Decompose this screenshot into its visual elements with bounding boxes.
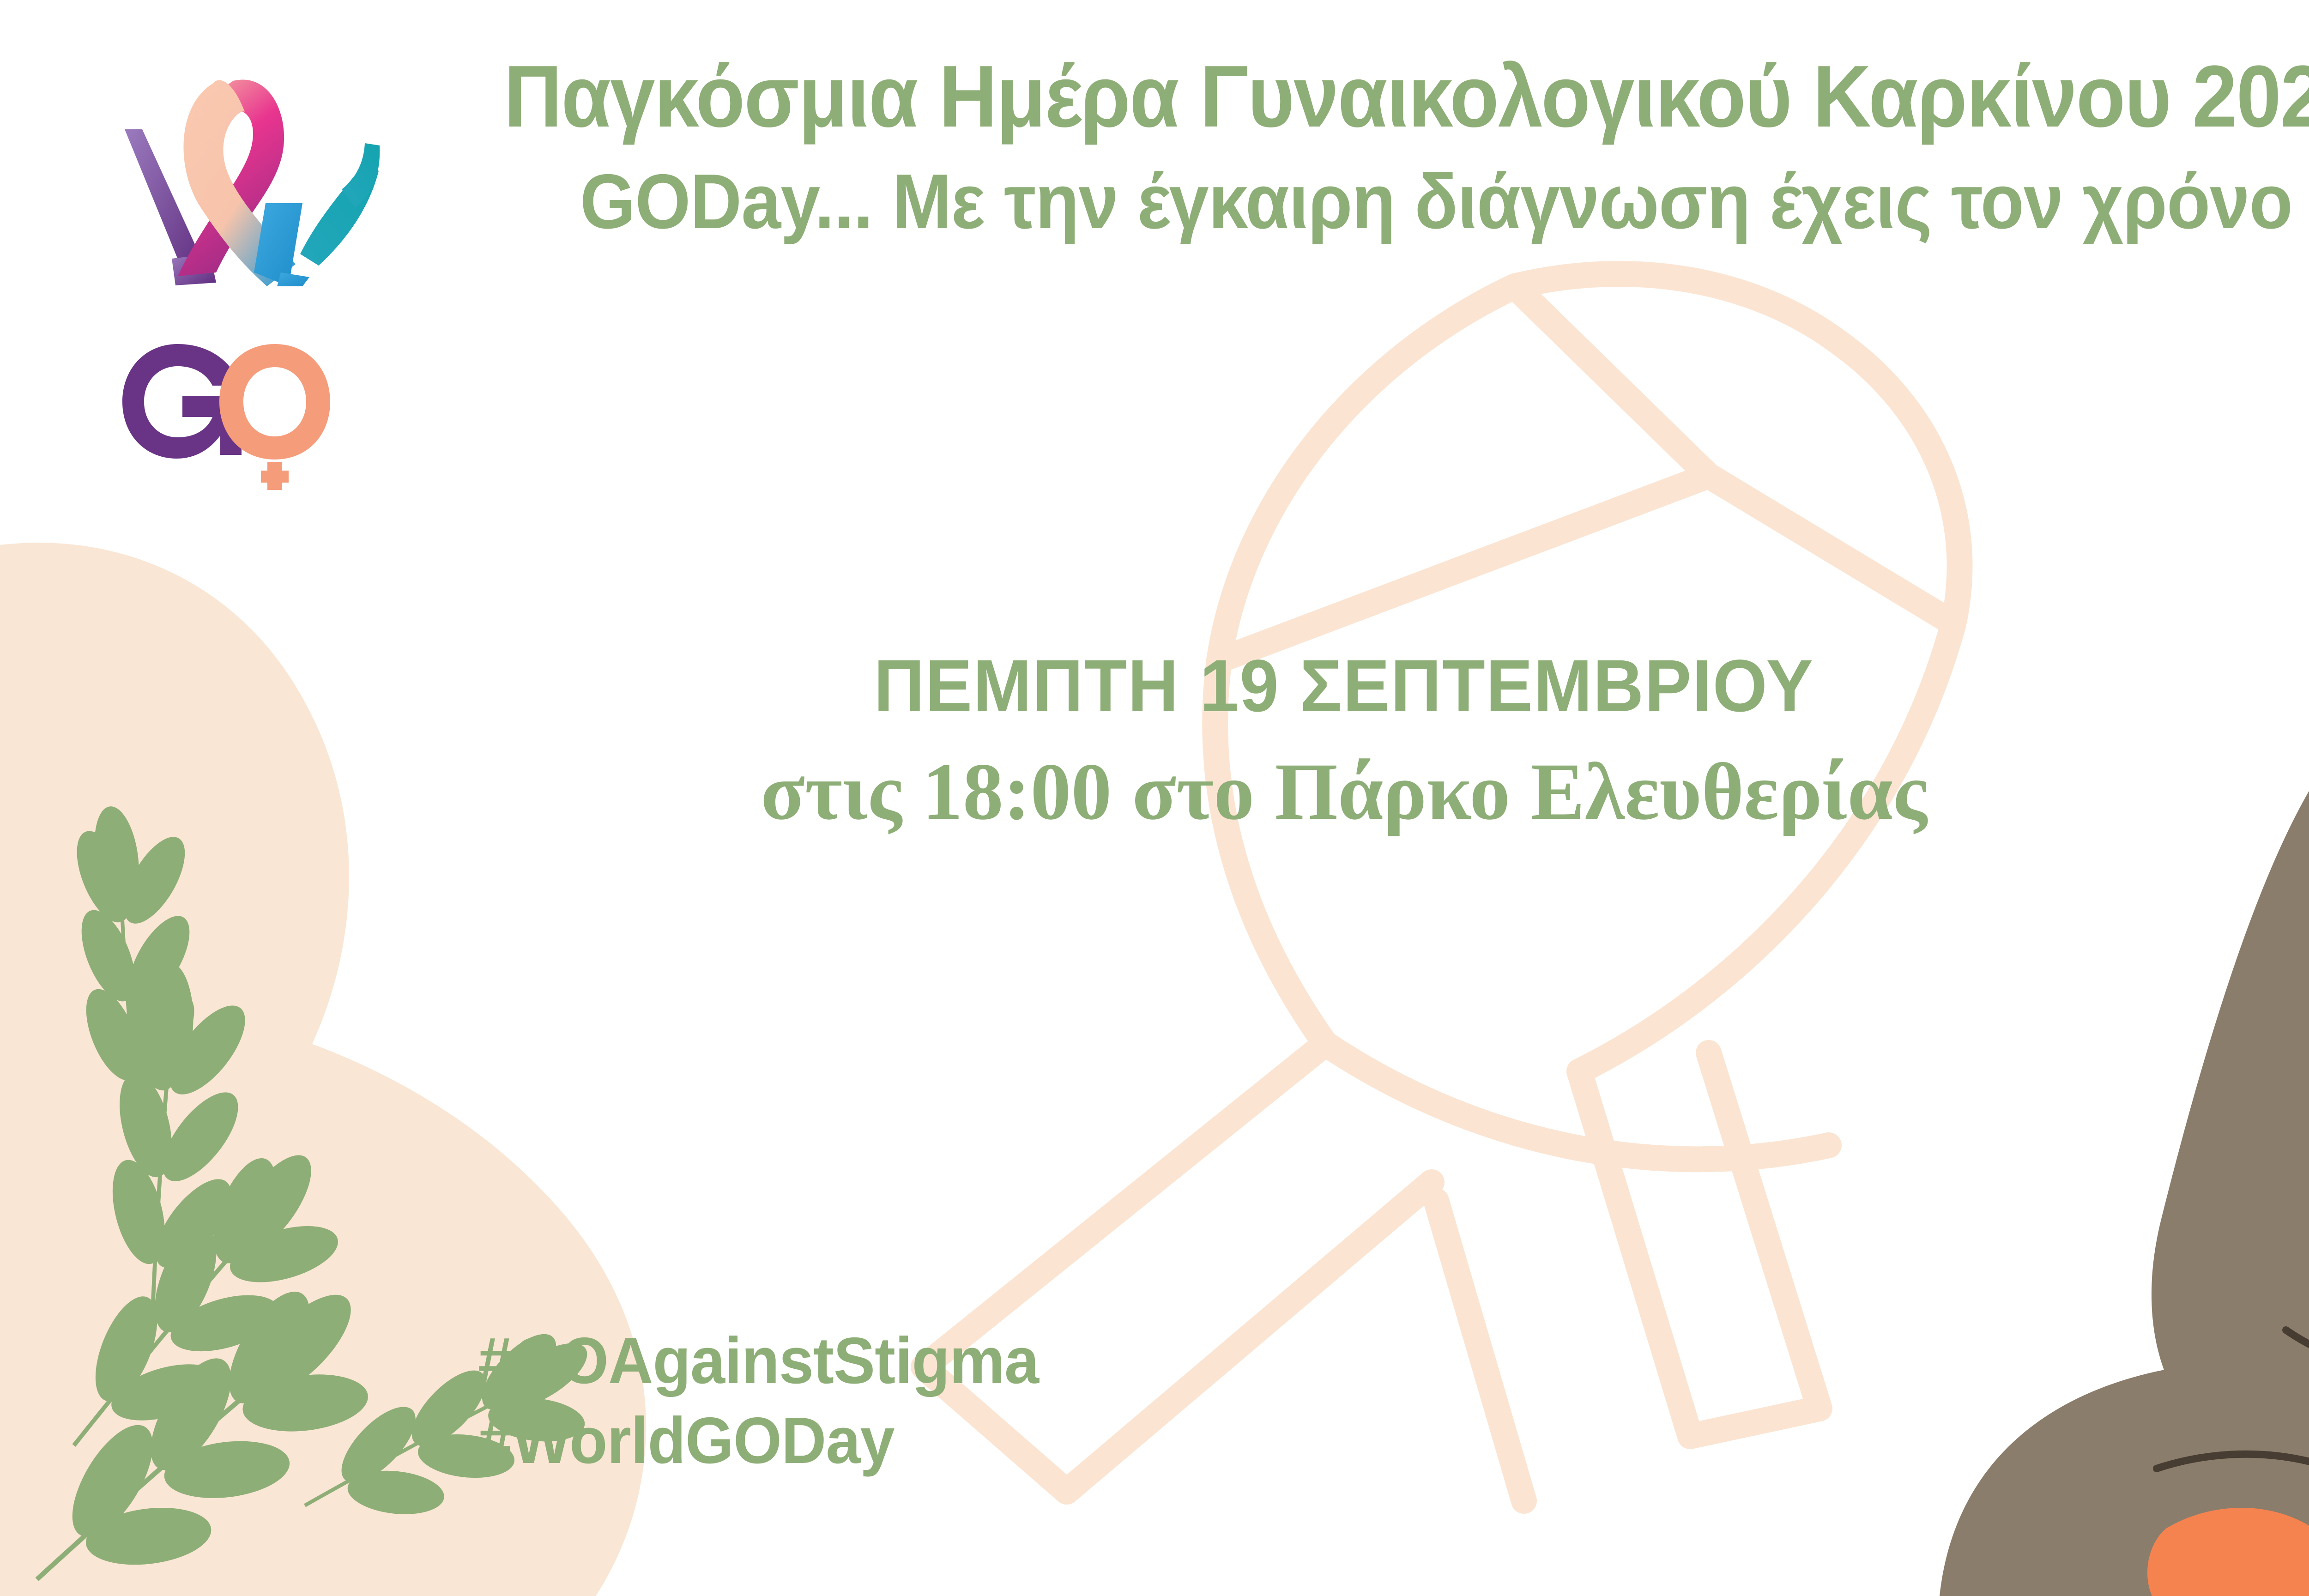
- poster-canvas: Παγκόσμια Ημέρα Γυναικολογικού Καρκίνου …: [0, 0, 2309, 1596]
- page-subtitle: GODay... Με την έγκαιρη διάγνωση έχεις τ…: [484, 159, 2309, 244]
- w-stroke-blue: [254, 203, 302, 286]
- figure-group: [1940, 340, 2309, 1596]
- go-female-symbol-cross: [261, 462, 289, 490]
- w-stroke-blue-2: [277, 272, 309, 286]
- go-letter-o: [219, 344, 330, 459]
- hashtag-world-go-day: #WorldGODay: [478, 1401, 1039, 1481]
- go-logo: [122, 339, 344, 492]
- hashtag-block: #GOAgainstStigma #WorldGODay: [478, 1321, 1068, 1481]
- headline-block: Παγκόσμια Ημέρα Γυναικολογικού Καρκίνου …: [402, 51, 2309, 244]
- page-title: Παγκόσμια Ημέρα Γυναικολογικού Καρκίνου …: [484, 51, 2309, 143]
- event-date: ΠΕΜΠΤΗ 19 ΣΕΠΤΕΜΒΡΙΟΥ: [445, 649, 2243, 723]
- w-ribbon-logo: [92, 55, 388, 314]
- event-time-place: στις 18:00 στο Πάρκο Ελευθερίας: [397, 751, 2291, 833]
- hashtag-go-against-stigma: #GOAgainstStigma: [478, 1321, 1039, 1401]
- event-details-block: ΠΕΜΠΤΗ 19 ΣΕΠΤΕΜΒΡΙΟΥ στις 18:00 στο Πάρ…: [397, 649, 2291, 833]
